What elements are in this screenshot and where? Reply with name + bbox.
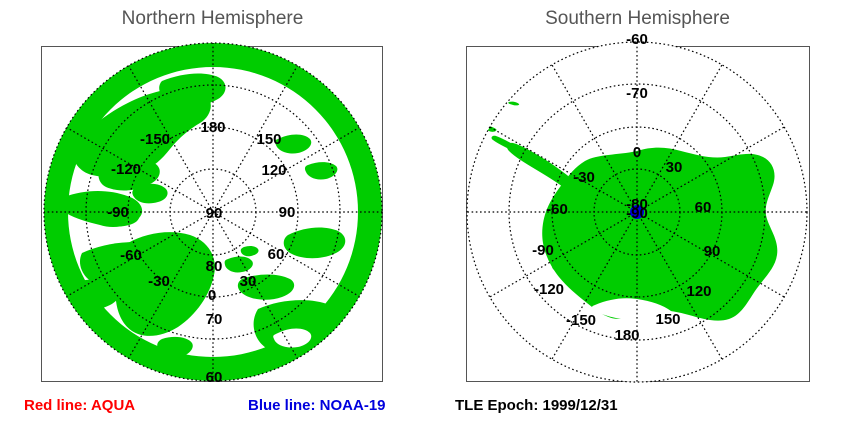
south-label-lon-neg150: -150: [566, 312, 596, 329]
north-label-lon-150: 150: [256, 131, 281, 148]
south-label-lat-neg90: -90: [626, 205, 648, 222]
south-label-lat-neg70: -70: [626, 85, 648, 102]
southern-hemisphere-title: Southern Hemisphere: [425, 8, 850, 30]
south-label-lon-30: 30: [666, 159, 683, 176]
north-label-lon-0: 0: [208, 287, 216, 304]
north-label-lon-neg60: -60: [120, 247, 142, 264]
legend-blue-line-noaa19: Blue line: NOAA-19: [248, 397, 386, 414]
north-label-lon-120: 120: [261, 162, 286, 179]
north-label-lat-70: 70: [206, 311, 223, 328]
northern-hemisphere-map: 180 -150 150 -120 120 -90 90 -60 60 -30 …: [42, 47, 384, 383]
south-label-lon-180: 180: [614, 327, 639, 344]
north-label-lon-neg30: -30: [148, 273, 170, 290]
north-label-lat-80: 80: [206, 258, 223, 275]
north-label-lon-60: 60: [268, 246, 285, 263]
south-label-lon-120: 120: [686, 283, 711, 300]
legend-red-line-aqua: Red line: AQUA: [24, 397, 135, 414]
north-label-lon-neg90: -90: [107, 204, 129, 221]
northern-hemisphere-plot-box: 180 -150 150 -120 120 -90 90 -60 60 -30 …: [41, 46, 383, 382]
northern-hemisphere-title: Northern Hemisphere: [0, 8, 425, 30]
southern-hemisphere-plot-box: -60 -70 0 30 -30 -80 60 -60 90 -90 -90 1…: [466, 46, 810, 382]
north-label-lat-90: 90: [206, 205, 223, 222]
south-label-lon-150: 150: [655, 311, 680, 328]
south-label-lon-neg90: -90: [532, 242, 554, 259]
north-label-lat-60: 60: [206, 369, 223, 386]
tle-epoch-label: TLE Epoch: 1999/12/31: [455, 397, 618, 414]
south-label-lon-neg120: -120: [534, 281, 564, 298]
south-label-lon-neg60: -60: [546, 201, 568, 218]
north-label-lon-90: 90: [279, 204, 296, 221]
south-label-lon-60: 60: [695, 199, 712, 216]
north-label-lon-neg120: -120: [111, 161, 141, 178]
north-label-lon-180: 180: [200, 119, 225, 136]
northern-hemisphere-panel: Northern Hemisphere: [0, 0, 425, 425]
southern-hemisphere-map: -60 -70 0 30 -30 -80 60 -60 90 -90 -90 1…: [467, 47, 811, 383]
north-label-lon-30: 30: [240, 273, 257, 290]
south-label-lon-0: 0: [633, 144, 641, 161]
south-label-lat-neg60: -60: [626, 31, 648, 48]
south-label-lon-neg30: -30: [573, 169, 595, 186]
north-label-lon-neg150: -150: [140, 131, 170, 148]
southern-hemisphere-panel: Southern Hemisphere: [425, 0, 850, 425]
south-label-lon-90: 90: [704, 243, 721, 260]
